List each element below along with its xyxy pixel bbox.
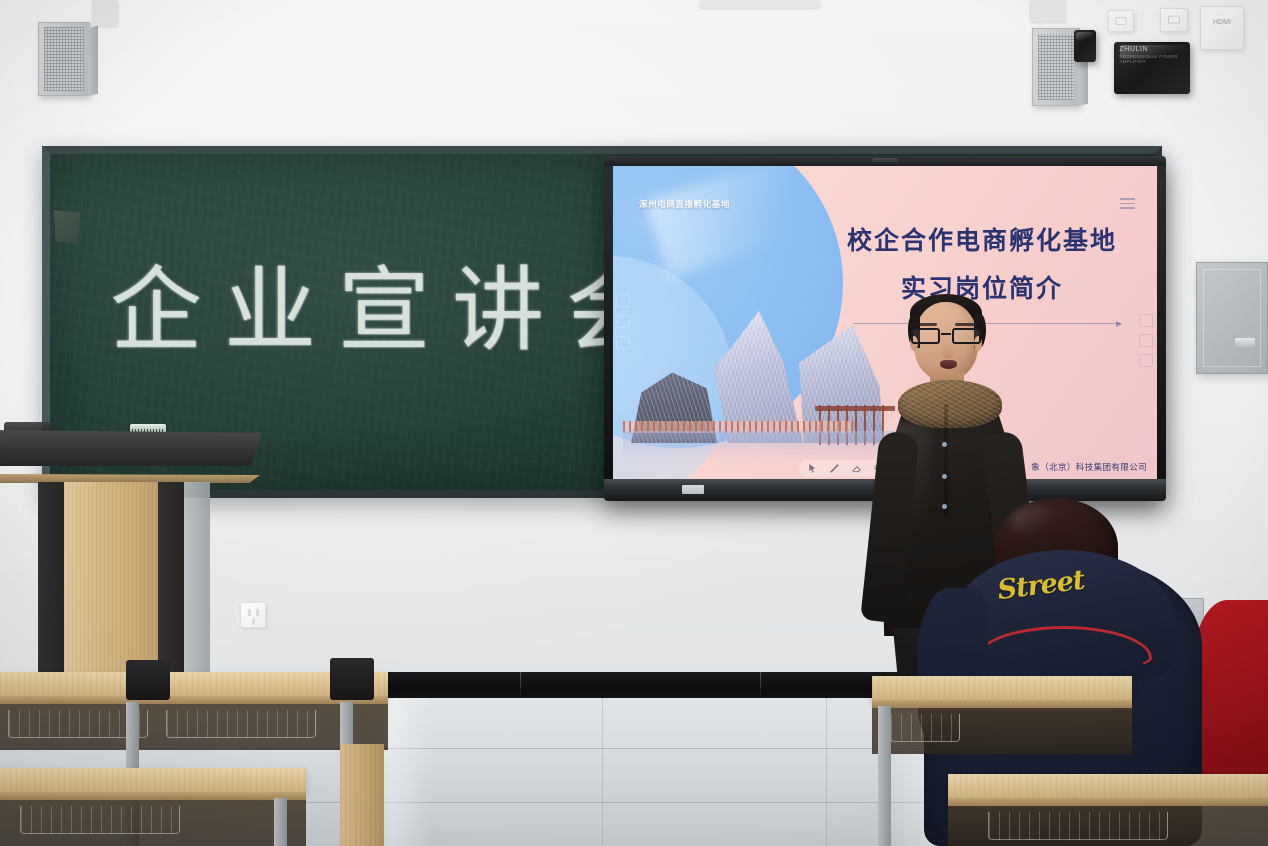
slide-left-toolbar[interactable] bbox=[616, 294, 630, 349]
desk-leg bbox=[274, 798, 287, 846]
classroom-scene: ZHULIN PROFESSIONAL POWER AMPLIFIER HDMI… bbox=[0, 0, 1268, 846]
blackboard-chalk-heading: 企业宣讲会 bbox=[110, 236, 680, 369]
desk-book-basket[interactable] bbox=[166, 710, 316, 738]
desk-edge bbox=[872, 700, 1132, 708]
left-tool-icon[interactable] bbox=[616, 336, 630, 349]
desk-edge bbox=[0, 792, 306, 800]
desk-side-panel bbox=[340, 744, 384, 846]
wall-plate-network[interactable] bbox=[1108, 10, 1134, 32]
presenter-fur-collar bbox=[898, 380, 1002, 428]
display-top-bezel bbox=[604, 156, 1166, 166]
wall-plate-power[interactable] bbox=[1160, 8, 1188, 32]
desk-surface bbox=[872, 676, 1132, 702]
right-tool-icon[interactable] bbox=[1139, 314, 1153, 327]
ceiling-trim bbox=[700, 0, 820, 8]
baseboard-vein bbox=[760, 672, 761, 700]
wall-plate-hdmi[interactable]: HDMI bbox=[1200, 6, 1244, 50]
desk-panel-grain bbox=[340, 744, 384, 846]
amplifier-sub-label: PROFESSIONAL POWER AMPLIFIER bbox=[1119, 54, 1190, 64]
amplifier-brand-label: ZHULIN bbox=[1119, 46, 1148, 53]
blackboard-tape-mark bbox=[54, 210, 80, 244]
pen-tool-icon[interactable] bbox=[829, 463, 840, 474]
fur-texture bbox=[898, 380, 1002, 428]
presenter-eyebrow-right bbox=[955, 323, 979, 326]
presenter-mouth bbox=[940, 360, 957, 369]
desk-front-left[interactable] bbox=[0, 768, 306, 846]
glasses-lens-right bbox=[952, 328, 981, 344]
desk-front-right[interactable] bbox=[948, 774, 1268, 846]
wall-speaker-right bbox=[1032, 28, 1080, 106]
glasses-lens-left bbox=[911, 328, 940, 344]
desk-edge bbox=[948, 798, 1268, 806]
baseboard-vein bbox=[520, 672, 521, 700]
sensor-gloss bbox=[1076, 32, 1094, 40]
desk-wood-grain bbox=[948, 774, 1268, 800]
lectern-top bbox=[0, 430, 262, 466]
chair-back[interactable] bbox=[126, 660, 170, 700]
desk-book-basket[interactable] bbox=[20, 806, 180, 834]
hamburger-bar bbox=[1120, 203, 1135, 205]
cable-tray-right bbox=[1030, 0, 1066, 22]
desk-leg bbox=[878, 706, 891, 846]
access-panel-latch[interactable] bbox=[1235, 338, 1255, 347]
presenter-eyebrow-left bbox=[913, 323, 937, 326]
wall-access-panel[interactable] bbox=[1196, 262, 1268, 374]
glasses-bridge bbox=[941, 333, 951, 335]
right-tool-icon[interactable] bbox=[1139, 334, 1153, 347]
slide-logo-text: 涿州电商直播孵化基地 bbox=[639, 198, 730, 210]
right-tool-icon[interactable] bbox=[1139, 354, 1153, 367]
student-hair-highlight bbox=[1010, 506, 1060, 536]
wall-plate-hdmi-label: HDMI bbox=[1201, 18, 1243, 27]
network-socket bbox=[1115, 17, 1126, 25]
left-tool-icon[interactable] bbox=[616, 315, 630, 328]
desk-surface bbox=[0, 768, 306, 794]
hamburger-menu-icon[interactable] bbox=[1120, 198, 1135, 212]
desk-book-basket[interactable] bbox=[988, 812, 1168, 840]
power-socket bbox=[1168, 15, 1180, 24]
hamburger-bar bbox=[1120, 198, 1135, 200]
speaker-grille bbox=[1038, 34, 1075, 101]
slide-right-toolbar[interactable] bbox=[1139, 314, 1153, 367]
camera-icon bbox=[872, 158, 898, 163]
av-amplifier: ZHULIN PROFESSIONAL POWER AMPLIFIER bbox=[1114, 42, 1190, 94]
access-panel-inner-frame bbox=[1203, 269, 1261, 367]
display-model-label bbox=[682, 485, 704, 494]
cursor-tool-icon[interactable] bbox=[807, 463, 818, 474]
hamburger-bar bbox=[1120, 207, 1135, 209]
sensor-module bbox=[1074, 30, 1096, 62]
shirt-button bbox=[942, 442, 947, 447]
desk-wood-grain bbox=[0, 768, 306, 794]
desk-wood-grain bbox=[872, 676, 1132, 702]
presenter-glasses bbox=[910, 328, 982, 345]
desk-surface bbox=[948, 774, 1268, 800]
slide-title-line1: 校企合作电商孵化基地 bbox=[833, 222, 1131, 261]
lectern-edge bbox=[0, 463, 264, 476]
presenter-nose bbox=[942, 346, 953, 359]
speaker-grille bbox=[44, 27, 84, 90]
slide-footer-company: 象（北京）科技集团有限公司 bbox=[1031, 461, 1147, 473]
desk-book-basket[interactable] bbox=[890, 714, 960, 742]
left-tool-icon[interactable] bbox=[616, 294, 630, 307]
wall-speaker-left bbox=[38, 22, 90, 96]
chair-back[interactable] bbox=[330, 658, 374, 700]
cable-tray-left bbox=[92, 0, 118, 26]
shirt-button bbox=[942, 474, 947, 479]
speaker-side bbox=[88, 26, 98, 96]
